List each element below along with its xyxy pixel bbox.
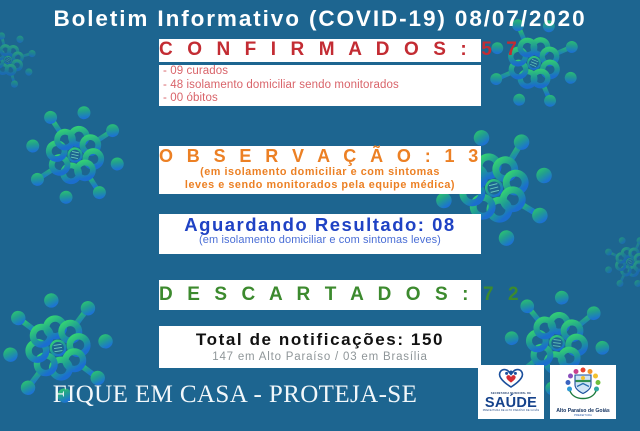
logo-secretaria-saude: SECRETARIA MUNICIPAL DE SAÚDE PREFEITURA…	[478, 365, 544, 419]
total-detail-line1: 147 em Alto Paraíso / 03 em Brasília	[159, 349, 481, 365]
total-headline: Total de notificações: 150	[159, 326, 481, 349]
logo-alto-paraiso-seal: Alto Paraíso de Goiás PREFEITURA	[550, 365, 616, 419]
municipal-coat-of-arms-icon	[562, 366, 604, 409]
observacao-detail-line2: leves e sendo monitorados pela equipe mé…	[159, 179, 481, 192]
page-title: Boletim Informativo (COVID-19) 08/07/202…	[0, 6, 640, 32]
confirmados-headline: C O N F I R M A D O S : 5 7	[159, 39, 481, 60]
observacao-headline: O B S E R V A Ç Ã O : 1 3	[159, 146, 481, 166]
panel-total-notificacoes: Total de notificações: 150 147 em Alto P…	[159, 326, 481, 368]
confirmados-detail-isolamento: - 48 isolamento domiciliar sendo monitor…	[159, 79, 481, 93]
descartados-headline: D E S C A R T A D O S : 7 2	[159, 280, 481, 305]
aguardando-headline: Aguardando Resultado: 08	[159, 214, 481, 234]
logo-saude-main-text: SAÚDE	[485, 396, 537, 411]
slogan-text: FIQUE EM CASA - PROTEJA-SE	[0, 381, 470, 409]
logo-seal-sub: PREFEITURA	[574, 414, 592, 417]
panel-observacao: O B S E R V A Ç Ã O : 1 3 (em isolamento…	[159, 146, 481, 194]
aguardando-detail-line1: (em isolamento domiciliar e com sintomas…	[159, 234, 481, 247]
health-heart-family-icon	[496, 366, 526, 393]
logo-strip: SECRETARIA MUNICIPAL DE SAÚDE PREFEITURA…	[478, 365, 616, 419]
bulletin-content: Boletim Informativo (COVID-19) 08/07/202…	[0, 0, 640, 426]
panel-confirmados-details: - 09 curados - 48 isolamento domiciliar …	[159, 65, 481, 106]
panel-aguardando-resultado: Aguardando Resultado: 08 (em isolamento …	[159, 214, 481, 254]
confirmados-detail-obitos: - 00 óbitos	[159, 92, 481, 106]
logo-saude-bottom-text: PREFEITURA DE ALTO PARAÍSO DE GOIÁS	[483, 410, 540, 413]
panel-confirmados: C O N F I R M A D O S : 5 7	[159, 39, 481, 62]
observacao-detail-line1: (em isolamento domiciliar e com sintomas	[159, 166, 481, 179]
panel-descartados: D E S C A R T A D O S : 7 2	[159, 280, 481, 310]
confirmados-detail-curados: - 09 curados	[159, 65, 481, 79]
